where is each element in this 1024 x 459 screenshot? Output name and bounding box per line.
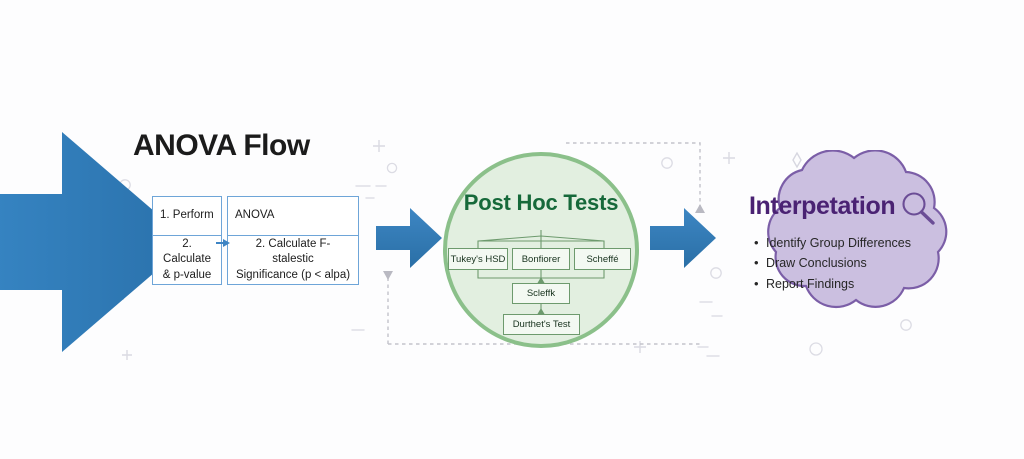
perform-cell-1: 1. Perform: [153, 197, 221, 235]
calculate-pvalue-label: 2. Calculate & p-value: [160, 237, 214, 283]
posthoc-test-bonfiorer[interactable]: Bonfiorer: [512, 248, 570, 270]
anova-step-boxes: 1. Perform 2. Calculate & p-value ANOVA …: [152, 196, 359, 285]
f-statistic-label: 2. Calculate F-stalestic Significance (p…: [235, 237, 351, 283]
interpretation-bullets: Identify Group Differences Draw Conclusi…: [753, 233, 963, 294]
f-statistic-line-2: Significance (p < alpa): [236, 269, 350, 281]
anova-box: ANOVA 2. Calculate F-stalestic Significa…: [227, 196, 359, 285]
interpretation-bullet-1: Identify Group Differences: [753, 233, 963, 253]
posthoc-test-scheffe[interactable]: Scheffé: [574, 248, 631, 270]
posthoc-merge-scleffk[interactable]: Scleffk: [512, 283, 570, 304]
anova-flow-diagram: ANOVA Flow 1. Perform 2. Calculate & p-v…: [0, 0, 1024, 459]
perform-box: 1. Perform 2. Calculate & p-value: [152, 196, 222, 285]
anova-label: ANOVA: [235, 208, 274, 223]
post-hoc-title: Post Hoc Tests: [443, 190, 639, 216]
calculate-line-1: 2. Calculate: [163, 238, 211, 265]
interpretation-title: Interpetation: [749, 192, 895, 221]
interpretation-bullet-2: Draw Conclusions: [753, 253, 963, 273]
page-title: ANOVA Flow: [133, 129, 310, 163]
interpretation-bullet-3: Report Findings: [753, 274, 963, 294]
perform-label: 1. Perform: [160, 208, 214, 223]
posthoc-test-tukey[interactable]: Tukey's HSD: [448, 248, 508, 270]
arrow-to-post-hoc: [376, 208, 442, 268]
perform-cell-2: 2. Calculate & p-value: [153, 235, 221, 284]
f-statistic-line-1: 2. Calculate F-stalestic: [256, 238, 331, 265]
posthoc-final-durthet[interactable]: Durthet's Test: [503, 314, 580, 335]
box-connector-arrow-icon: [216, 236, 230, 250]
arrow-to-interpretation: [650, 208, 716, 268]
calculate-line-2: & p-value: [163, 269, 212, 281]
anova-cell-2: 2. Calculate F-stalestic Significance (p…: [228, 235, 358, 284]
anova-cell-1: ANOVA: [228, 197, 358, 235]
magnifier-icon: [899, 190, 939, 230]
post-hoc-tree: Tukey's HSD Bonfiorer Scheffé Scleffk Du…: [443, 230, 639, 335]
